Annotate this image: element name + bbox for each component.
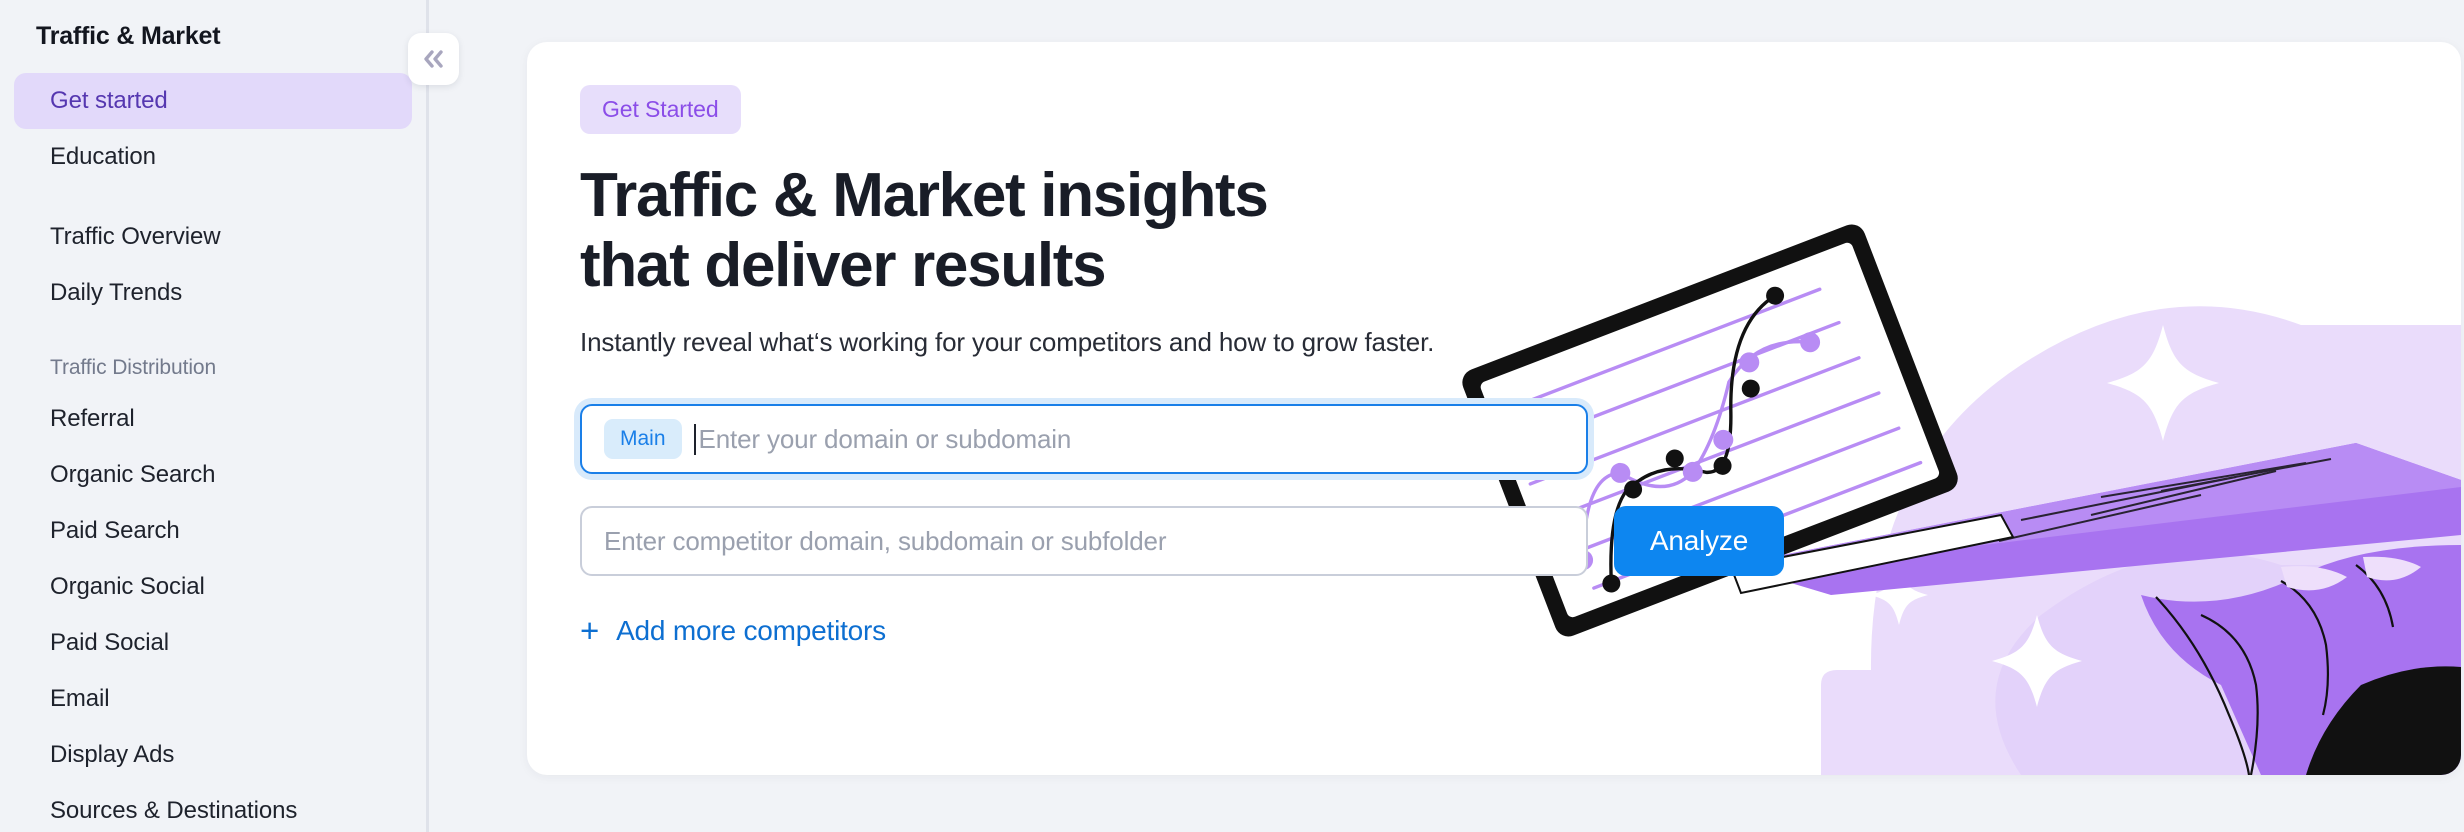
add-more-competitors-button[interactable]: + Add more competitors [580, 614, 886, 647]
add-more-competitors-label: Add more competitors [616, 615, 886, 647]
sidebar-item-referral[interactable]: Referral [14, 391, 412, 447]
status-badge: Get Started [580, 85, 741, 134]
sidebar-section-label: Traffic Distribution [50, 356, 216, 380]
page-subtitle: Instantly reveal what‘s working for your… [580, 327, 2461, 358]
sidebar-spacer [0, 321, 426, 345]
sidebar-item-label: Organic Search [50, 461, 215, 489]
sidebar-item-label: Referral [50, 405, 135, 433]
hero-section: Get Started Traffic & Market insights th… [527, 42, 2461, 647]
sidebar-section-traffic-distribution: Traffic Distribution [14, 345, 412, 391]
sidebar-item-label: Email [50, 685, 110, 713]
competitor-domain-placeholder: Enter competitor domain, subdomain or su… [604, 526, 1166, 557]
analyze-button[interactable]: Analyze [1614, 506, 1784, 576]
sidebar-item-sources-destinations[interactable]: Sources & Destinations [14, 783, 412, 832]
main-domain-input[interactable]: Main Enter your domain or subdomain [580, 404, 1588, 474]
sidebar-item-email[interactable]: Email [14, 671, 412, 727]
sidebar-item-label: Sources & Destinations [50, 797, 297, 825]
sidebar-item-display-ads[interactable]: Display Ads [14, 727, 412, 783]
competitor-row: Enter competitor domain, subdomain or su… [580, 506, 2461, 576]
main-label-pill: Main [604, 419, 682, 459]
sidebar-item-education[interactable]: Education [14, 129, 412, 185]
page-title-line-1: Traffic & Market insights [580, 161, 1268, 230]
main-domain-placeholder: Enter your domain or subdomain [699, 424, 1072, 455]
page-title-line-2: that deliver results [580, 231, 1105, 300]
sidebar-nav-list: Get started Education Traffic Overview D… [0, 73, 426, 832]
sidebar-item-label: Get started [50, 87, 168, 115]
chevron-double-left-icon [419, 48, 449, 70]
sidebar-spacer [0, 185, 426, 209]
plus-icon: + [580, 614, 599, 647]
sidebar-item-paid-search[interactable]: Paid Search [14, 503, 412, 559]
main-domain-row: Main Enter your domain or subdomain [580, 404, 2461, 474]
competitor-domain-input[interactable]: Enter competitor domain, subdomain or su… [580, 506, 1588, 576]
page-title: Traffic & Market insights that deliver r… [580, 161, 2461, 301]
sidebar-item-organic-social[interactable]: Organic Social [14, 559, 412, 615]
sidebar-item-label: Paid Search [50, 517, 180, 545]
sidebar-item-paid-social[interactable]: Paid Social [14, 615, 412, 671]
sidebar-item-daily-trends[interactable]: Daily Trends [14, 265, 412, 321]
sidebar-item-label: Display Ads [50, 741, 174, 769]
sidebar-title: Traffic & Market [0, 22, 426, 51]
sidebar-item-organic-search[interactable]: Organic Search [14, 447, 412, 503]
main-content: Get Started Traffic & Market insights th… [429, 0, 2464, 832]
text-caret [694, 424, 696, 455]
app-root: Traffic & Market Get started Education T… [0, 0, 2464, 832]
sidebar-item-label: Education [50, 143, 156, 171]
sidebar-item-traffic-overview[interactable]: Traffic Overview [14, 209, 412, 265]
sidebar-collapse-button[interactable] [408, 33, 459, 85]
get-started-card: Get Started Traffic & Market insights th… [527, 42, 2461, 775]
sidebar-item-label: Traffic Overview [50, 223, 220, 251]
sidebar-item-label: Organic Social [50, 573, 205, 601]
sidebar-item-label: Paid Social [50, 629, 169, 657]
sidebar-item-label: Daily Trends [50, 279, 182, 307]
sidebar-item-get-started[interactable]: Get started [14, 73, 412, 129]
sidebar: Traffic & Market Get started Education T… [0, 0, 429, 832]
